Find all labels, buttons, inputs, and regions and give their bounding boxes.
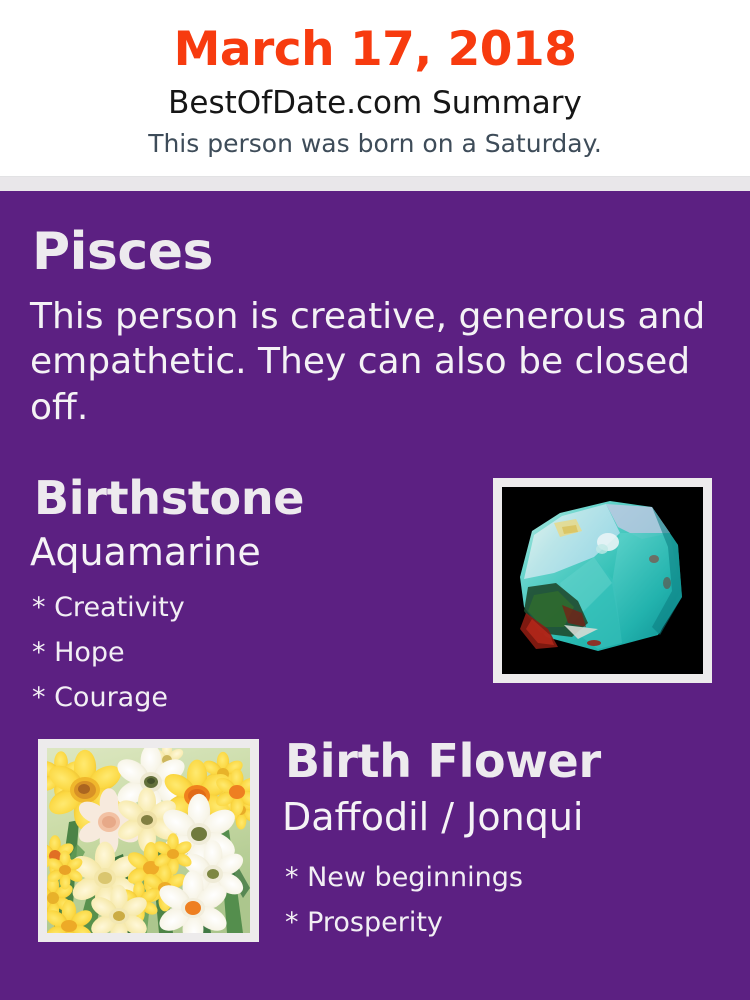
birth-flower-heading: Birth Flower [285, 737, 601, 787]
zodiac-description: This person is creative, generous and em… [30, 294, 720, 430]
birth-flower-image [47, 748, 250, 933]
list-item: * Prosperity [285, 900, 725, 945]
birthstone-image-frame [493, 478, 712, 683]
list-item: * Courage [32, 675, 472, 720]
birth-flower-name: Daffodil / Jonqui [282, 796, 583, 839]
birthstone-trait-list: * Creativity * Hope * Courage [32, 585, 472, 720]
birthstone-name: Aquamarine [30, 531, 261, 574]
list-item: * New beginnings [285, 855, 725, 900]
birthstone-image [502, 487, 703, 674]
list-item: * Hope [32, 630, 472, 675]
summary-card: March 17, 2018 BestOfDate.com Summary Th… [0, 0, 750, 1000]
birthstone-heading: Birthstone [34, 474, 304, 524]
weekday-note: This person was born on a Saturday. [0, 130, 750, 159]
list-item: * Creativity [32, 585, 472, 630]
page-title-date: March 17, 2018 [0, 24, 750, 77]
zodiac-sign-heading: Pisces [32, 224, 213, 280]
header: March 17, 2018 BestOfDate.com Summary Th… [0, 0, 750, 176]
birth-flower-trait-list: * New beginnings * Prosperity [285, 855, 725, 945]
header-divider [0, 176, 750, 191]
birth-flower-image-frame [38, 739, 259, 942]
site-summary-label: BestOfDate.com Summary [0, 86, 750, 122]
